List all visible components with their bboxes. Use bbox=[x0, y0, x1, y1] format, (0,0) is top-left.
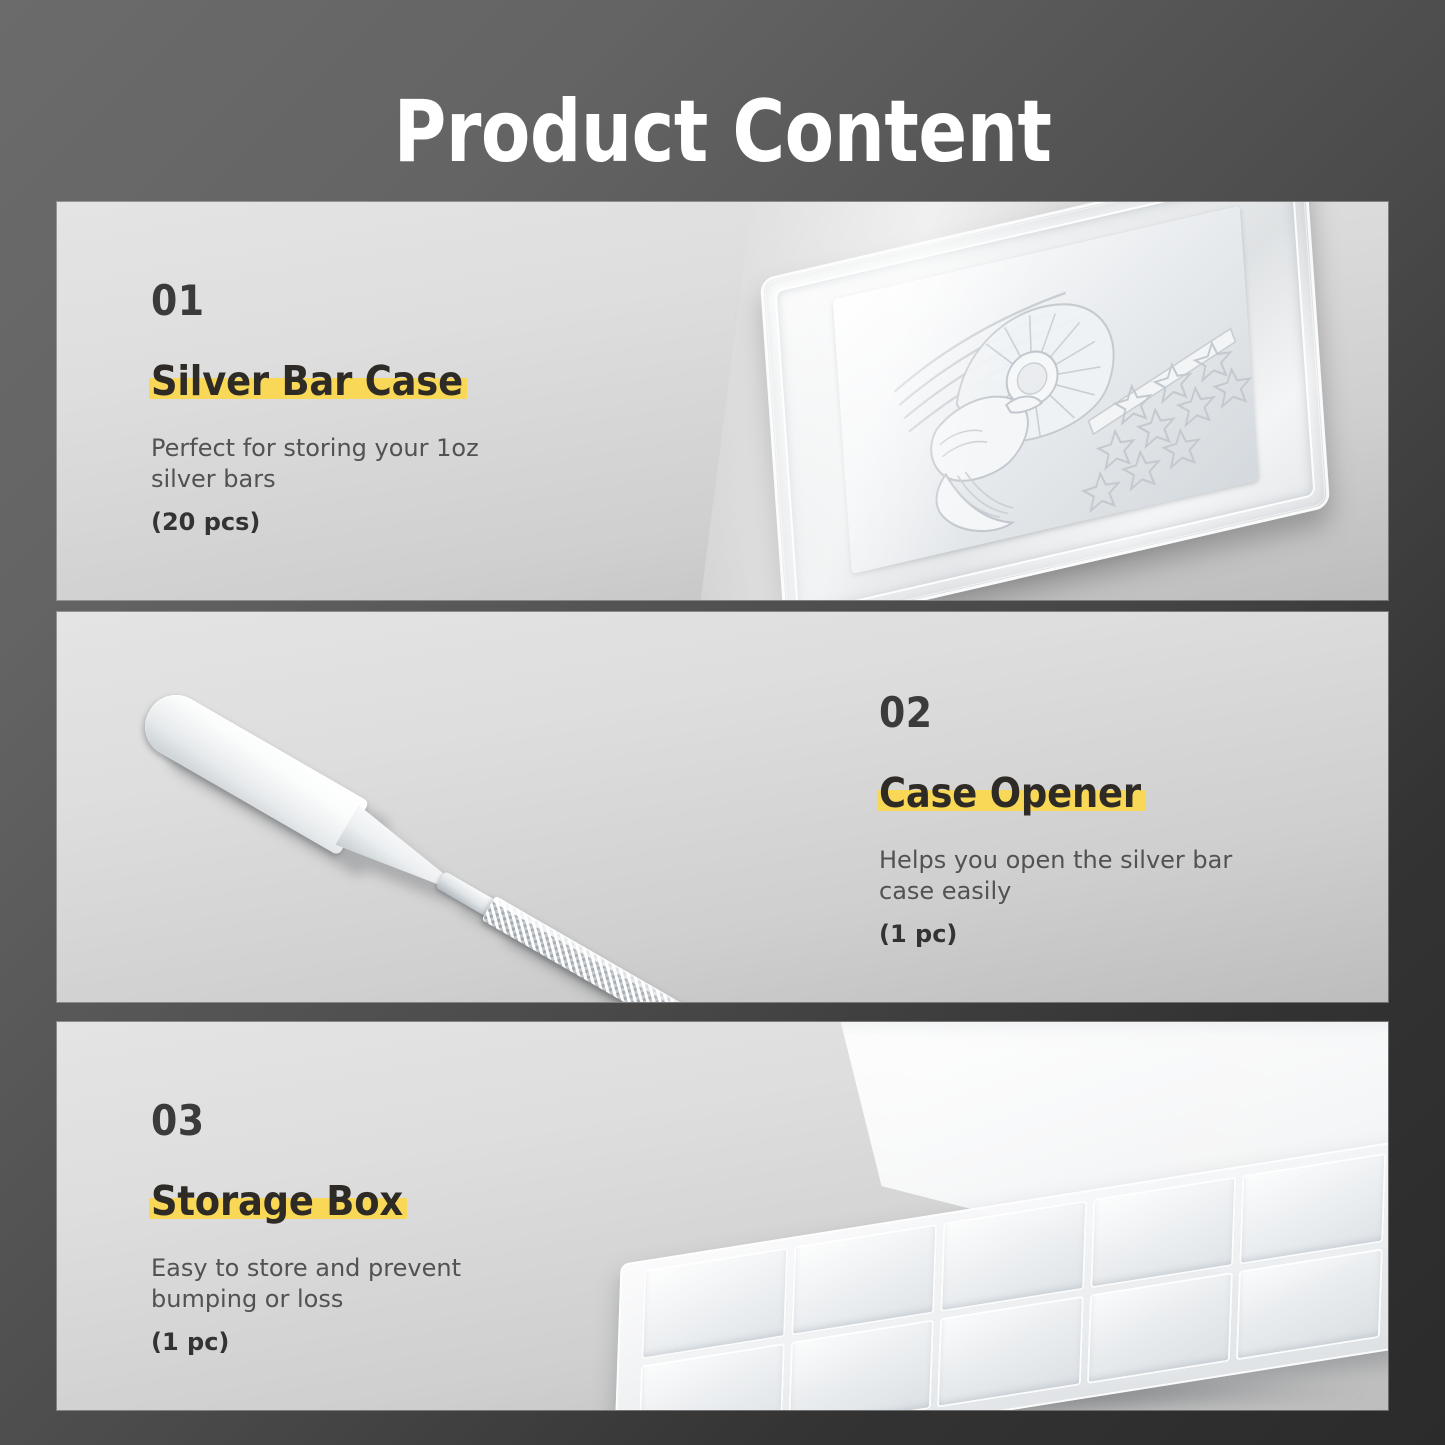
panel-1-title-wrap: Silver Bar Case bbox=[151, 360, 463, 403]
panel-3-description: Easy to store and prevent bumping or los… bbox=[151, 1253, 531, 1314]
panel-2-quantity: (1 pc) bbox=[879, 920, 1299, 948]
panel-2-title: Case Opener bbox=[879, 769, 1141, 817]
compartment-cell bbox=[1236, 1248, 1383, 1360]
panel-3-title: Storage Box bbox=[151, 1177, 403, 1225]
compartment-cell bbox=[641, 1247, 788, 1359]
compartment-cell bbox=[937, 1296, 1084, 1408]
stainless-steel-case-opener-tool-photo bbox=[147, 666, 847, 1002]
panel-1-description: Perfect for storing your 1oz silver bars bbox=[151, 433, 531, 494]
panel-1-title: Silver Bar Case bbox=[151, 357, 463, 405]
clear-plastic-compartment-storage-box-photo bbox=[617, 1022, 1388, 1410]
panel-3-text-block: 03 Storage Box Easy to store and prevent… bbox=[151, 1100, 571, 1356]
panel-1-number: 01 bbox=[151, 280, 571, 322]
panel-2-description: Helps you open the silver bar case easil… bbox=[879, 845, 1259, 906]
panel-3-title-wrap: Storage Box bbox=[151, 1180, 403, 1223]
product-panel-1: 01 Silver Bar Case Perfect for storing y… bbox=[57, 202, 1388, 600]
tool-blade bbox=[134, 684, 369, 856]
product-panel-3: 03 Storage Box Easy to store and prevent… bbox=[57, 1022, 1388, 1410]
panel-1-quantity: (20 pcs) bbox=[151, 508, 571, 536]
clear-case-body bbox=[760, 202, 1330, 600]
compartment-cell bbox=[1087, 1272, 1234, 1384]
panel-2-title-wrap: Case Opener bbox=[879, 772, 1141, 815]
panel-3-quantity: (1 pc) bbox=[151, 1328, 571, 1356]
compartment-cell bbox=[1090, 1176, 1237, 1288]
panel-3-number: 03 bbox=[151, 1100, 571, 1142]
panel-2-text-block: 02 Case Opener Helps you open the silver… bbox=[879, 692, 1299, 948]
compartment-cell bbox=[940, 1200, 1087, 1312]
compartment-cell bbox=[1240, 1153, 1387, 1265]
page-title: Product Content bbox=[51, 82, 1395, 182]
panel-1-text-block: 01 Silver Bar Case Perfect for storing y… bbox=[151, 280, 571, 536]
compartment-cell bbox=[791, 1224, 938, 1336]
opener-tool bbox=[57, 684, 737, 1002]
panel-2-number: 02 bbox=[879, 692, 1299, 734]
silver-bar-in-clear-case-photo bbox=[707, 202, 1388, 600]
product-panel-2: 02 Case Opener Helps you open the silver… bbox=[57, 612, 1388, 1002]
